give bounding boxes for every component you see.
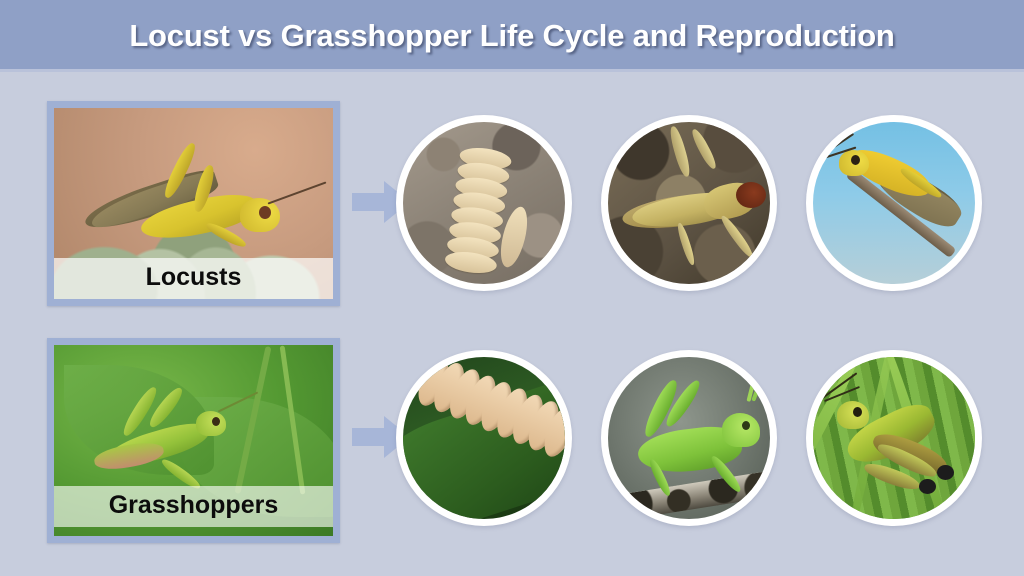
- locust-adult-on-plant-photo: Locusts: [54, 108, 333, 299]
- nymph-head: [736, 182, 766, 208]
- locust-nymph-stage-photo: [601, 115, 777, 291]
- locusts-main-photo-panel: Locusts: [47, 101, 340, 306]
- grasshopper-egg-stage-image: [403, 357, 565, 519]
- nymph-head: [722, 413, 760, 447]
- nymph-eye: [742, 421, 750, 430]
- grasshopper-adult-on-leaf-photo: Grasshoppers: [54, 345, 333, 536]
- arrow-shaft: [352, 428, 386, 446]
- locust-eye: [259, 206, 271, 219]
- adult-eye: [853, 407, 862, 417]
- locust-nymph-stage-image: [608, 122, 770, 284]
- grasshopper-adult-stage-photo: [806, 350, 982, 526]
- adult-hind-knee: [937, 465, 954, 480]
- arrow-shaft: [352, 193, 386, 211]
- adult-hind-knee-2: [919, 479, 936, 494]
- locust-egg-stage-image: [403, 122, 565, 284]
- page-title: Locust vs Grasshopper Life Cycle and Rep…: [129, 18, 894, 54]
- locust-adult-stage-photo: [806, 115, 982, 291]
- grasshoppers-main-photo-panel: Grasshoppers: [47, 338, 340, 543]
- grasshopper-head: [196, 411, 226, 436]
- grasshopper-nymph-stage-photo: [601, 350, 777, 526]
- locusts-caption: Locusts: [54, 258, 333, 299]
- grasshopper-nymph-stage-image: [608, 357, 770, 519]
- grasshopper-egg-stage-photo: [396, 350, 572, 526]
- locust-egg-stage-photo: [396, 115, 572, 291]
- grasshopper-eye: [212, 417, 220, 426]
- locust-eye: [851, 155, 860, 165]
- locust-adult-stage-image: [813, 122, 975, 284]
- grasshoppers-caption: Grasshoppers: [54, 486, 333, 527]
- title-bar: Locust vs Grasshopper Life Cycle and Rep…: [0, 0, 1024, 72]
- grasshopper-adult-stage-image: [813, 357, 975, 519]
